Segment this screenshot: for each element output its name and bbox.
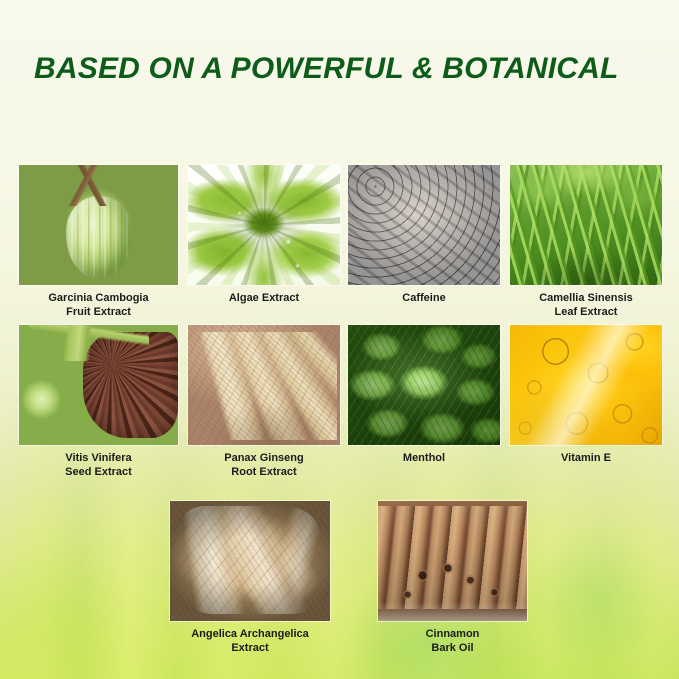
ingredient-label-line1: Panax Ginseng <box>188 452 340 466</box>
ingredient-label-line1: Camellia Sinensis <box>510 292 662 306</box>
ingredient-card-cinnamon-bark-oil: Cinnamon Bark Oil <box>378 501 527 655</box>
ingredient-label-line1: Garcinia Cambogia <box>19 292 178 306</box>
cinnamon-bark-sticks-photo <box>378 501 527 621</box>
ingredient-label-line2: Leaf Extract <box>510 306 662 320</box>
ingredient-card-panax-ginseng-root-extract: Panax Ginseng Root Extract <box>188 325 340 479</box>
ingredient-card-menthol: Menthol <box>348 325 500 466</box>
garcinia-cambogia-fruit-photo <box>19 165 178 285</box>
coffee-beans-photo <box>348 165 500 285</box>
ingredient-label-line2: Seed Extract <box>19 466 178 480</box>
ingredient-label-line1: Caffeine <box>348 292 500 306</box>
ingredient-label-line1: Vitis Vinifera <box>19 452 178 466</box>
ingredient-label: Menthol <box>348 452 500 466</box>
ingredient-label: Camellia Sinensis Leaf Extract <box>510 292 662 319</box>
golden-oil-bubbles-photo <box>510 325 662 445</box>
ingredient-label: Vitis Vinifera Seed Extract <box>19 452 178 479</box>
ingredient-card-angelica-archangelica-extract: Angelica Archangelica Extract <box>170 501 330 655</box>
ingredient-card-caffeine: Caffeine <box>348 165 500 306</box>
page-title: BASED ON A POWERFUL & BOTANICAL <box>34 52 619 86</box>
ginseng-root-photo <box>188 325 340 445</box>
ingredient-label: Garcinia Cambogia Fruit Extract <box>19 292 178 319</box>
dried-angelica-root-photo <box>170 501 330 621</box>
ingredient-label: Panax Ginseng Root Extract <box>188 452 340 479</box>
ingredient-label-line2: Root Extract <box>188 466 340 480</box>
ingredient-label: Caffeine <box>348 292 500 306</box>
ingredient-grid: Garcinia Cambogia Fruit Extract Algae Ex… <box>0 0 679 679</box>
mint-leaves-photo <box>348 325 500 445</box>
ingredient-label-line2: Bark Oil <box>378 642 527 656</box>
ingredient-card-vitis-vinifera-seed-extract: Vitis Vinifera Seed Extract <box>19 325 178 479</box>
algae-seaweed-photo <box>188 165 340 285</box>
ingredient-card-vitamin-e: Vitamin E <box>510 325 662 466</box>
ingredient-card-garcinia-cambogia-fruit-extract: Garcinia Cambogia Fruit Extract <box>19 165 178 319</box>
ingredient-card-algae-extract: Algae Extract <box>188 165 340 306</box>
ingredient-label-line2: Extract <box>170 642 330 656</box>
ingredient-label-line1: Angelica Archangelica <box>170 628 330 642</box>
ingredient-label-line1: Vitamin E <box>510 452 662 466</box>
ingredient-label-line2: Fruit Extract <box>19 306 178 320</box>
ingredient-label: Algae Extract <box>188 292 340 306</box>
ingredient-label: Cinnamon Bark Oil <box>378 628 527 655</box>
botanical-ingredients-poster: BASED ON A POWERFUL & BOTANICAL Garcinia… <box>0 0 679 679</box>
ingredient-label: Vitamin E <box>510 452 662 466</box>
ingredient-label-line1: Algae Extract <box>188 292 340 306</box>
ingredient-label-line1: Menthol <box>348 452 500 466</box>
ingredient-label: Angelica Archangelica Extract <box>170 628 330 655</box>
ingredient-card-camellia-sinensis-leaf-extract: Camellia Sinensis Leaf Extract <box>510 165 662 319</box>
green-tea-leaves-photo <box>510 165 662 285</box>
ingredient-label-line1: Cinnamon <box>378 628 527 642</box>
grapes-and-grape-seeds-photo <box>19 325 178 445</box>
